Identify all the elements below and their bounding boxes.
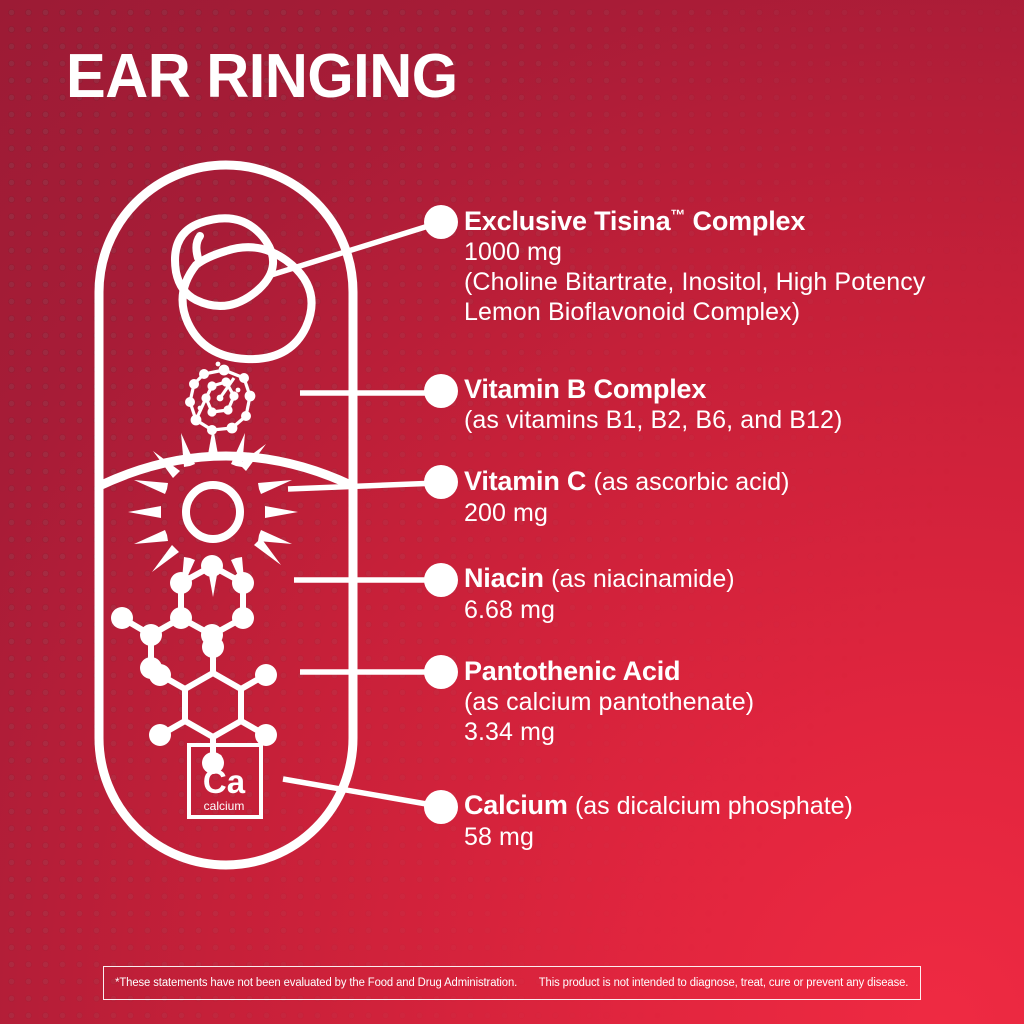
ingredient-detail-pantothenic: (as calcium pantothenate) bbox=[464, 687, 754, 717]
ingredient-amount-calcium: 58 mg bbox=[464, 822, 853, 852]
capsule-outline bbox=[99, 165, 353, 865]
ingredient-amount-vitamin-c: 200 mg bbox=[464, 498, 789, 528]
ingredient-detail-tisina-1: (Choline Bitartrate, Inositol, High Pote… bbox=[464, 267, 925, 297]
ingredient-name-vitamin-c: Vitamin C (as ascorbic acid) bbox=[464, 466, 789, 498]
lemon-icon bbox=[175, 218, 312, 359]
ingredient-block-vitamin-c: Vitamin C (as ascorbic acid) 200 mg bbox=[464, 466, 789, 528]
ingredient-block-calcium: Calcium (as dicalcium phosphate) 58 mg bbox=[464, 790, 853, 852]
ingredient-block-tisina: Exclusive Tisina™ Complex 1000 mg (Choli… bbox=[464, 206, 925, 327]
ingredient-name-niacin: Niacin (as niacinamide) bbox=[464, 563, 735, 595]
trademark-symbol: ™ bbox=[670, 207, 685, 224]
calcium-element-name: calcium bbox=[204, 799, 245, 813]
ingredient-qualifier-calcium: (as dicalcium phosphate) bbox=[575, 792, 853, 820]
capsule-joint-line bbox=[97, 456, 355, 487]
ingredient-qualifier-niacin: (as niacinamide) bbox=[551, 565, 734, 593]
ingredient-name-pantothenic: Pantothenic Acid bbox=[464, 656, 754, 687]
ingredient-name-vitamin-b: Vitamin B Complex bbox=[464, 374, 842, 405]
disclaimer-text: *These statements have not been evaluate… bbox=[115, 977, 908, 989]
ingredient-amount-tisina: 1000 mg bbox=[464, 237, 925, 267]
calcium-symbol: Ca bbox=[203, 763, 246, 800]
ingredient-name-calcium: Calcium (as dicalcium phosphate) bbox=[464, 790, 853, 822]
disclaimer-box: *These statements have not been evaluate… bbox=[103, 966, 921, 1000]
connector-bullets bbox=[424, 205, 458, 824]
ingredient-amount-niacin: 6.68 mg bbox=[464, 595, 735, 625]
disclaimer-part-2: This product is not intended to diagnose… bbox=[539, 977, 909, 989]
ingredient-name-tisina: Exclusive Tisina™ Complex bbox=[464, 206, 925, 237]
molecule-cluster-icon bbox=[185, 362, 255, 435]
disclaimer-part-1: *These statements have not been evaluate… bbox=[115, 977, 517, 989]
ingredient-amount-pantothenic: 3.34 mg bbox=[464, 717, 754, 747]
niacin-molecule-icon bbox=[111, 555, 254, 679]
ingredient-detail-vitamin-b: (as vitamins B1, B2, B6, and B12) bbox=[464, 405, 842, 435]
ingredient-block-niacin: Niacin (as niacinamide) 6.68 mg bbox=[464, 563, 735, 625]
ingredient-block-vitamin-b: Vitamin B Complex (as vitamins B1, B2, B… bbox=[464, 374, 842, 435]
ingredient-block-pantothenic: Pantothenic Acid (as calcium pantothenat… bbox=[464, 656, 754, 747]
calcium-element-icon: 20 Ca calcium bbox=[189, 745, 261, 817]
ingredient-qualifier-vitamin-c: (as ascorbic acid) bbox=[594, 468, 790, 496]
ingredient-detail-tisina-2: Lemon Bioflavonoid Complex) bbox=[464, 297, 925, 327]
infographic-canvas: EAR RINGING bbox=[0, 0, 1024, 1024]
